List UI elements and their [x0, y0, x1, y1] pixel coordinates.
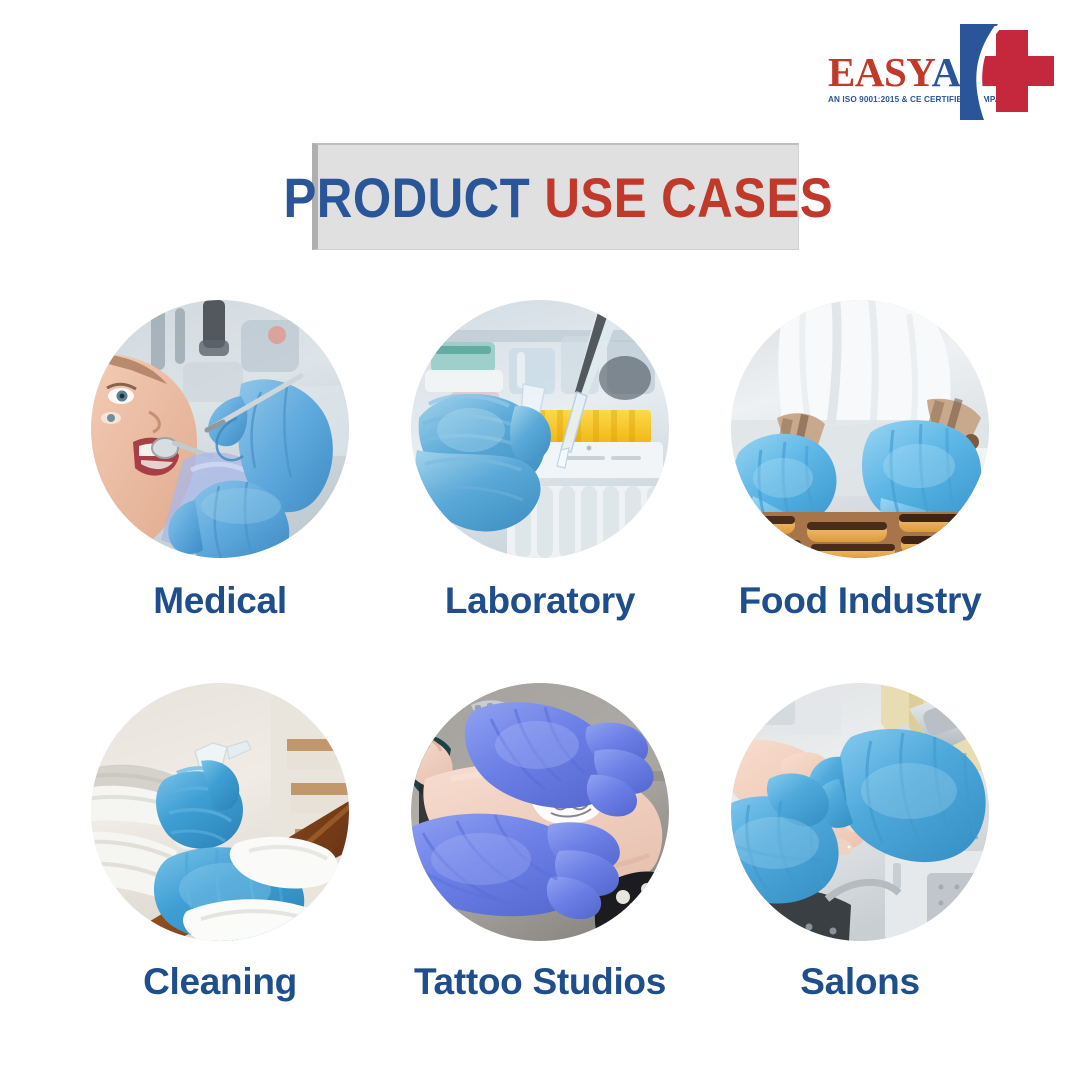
title-secondary: USE CASES — [544, 166, 833, 229]
poster-canvas: EASYAID AN ISO 9001:2015 & CE CERTIFIED … — [0, 0, 1080, 1080]
use-case-label-food-industry: Food Industry — [739, 582, 982, 619]
use-case-card-food-industry: Food Industry — [700, 300, 1020, 657]
use-case-card-salons: Salons — [700, 683, 1020, 1040]
use-case-card-cleaning: Cleaning — [60, 683, 380, 1040]
cleaning-illustration — [91, 683, 349, 941]
manicure-nail-drill-photo — [731, 683, 989, 941]
dental-examination-photo — [91, 300, 349, 558]
pipette-lab-photo — [411, 300, 669, 558]
use-case-label-cleaning: Cleaning — [143, 963, 297, 1000]
title-banner: PRODUCT USE CASES — [312, 143, 799, 250]
use-case-label-salons: Salons — [800, 963, 920, 1000]
use-case-label-tattoo-studios: Tattoo Studios — [414, 963, 666, 1000]
brand-logo: EASYAID AN ISO 9001:2015 & CE CERTIFIED … — [822, 18, 1062, 126]
medical-cross-swoosh-icon — [960, 24, 1056, 120]
bakery-gloves-photo — [731, 300, 989, 558]
use-case-card-tattoo-studios: Tattoo Studios — [380, 683, 700, 1040]
food-industry-illustration — [731, 300, 989, 558]
laboratory-pipette-illustration — [411, 300, 669, 558]
use-case-label-laboratory: Laboratory — [445, 582, 635, 619]
tattoo-studio-illustration — [411, 683, 669, 941]
dental-examination-illustration — [91, 300, 349, 558]
title-primary: PRODUCT — [283, 166, 530, 229]
brand-name-easy: EASY — [828, 49, 932, 95]
salon-manicure-illustration — [731, 683, 989, 941]
use-case-label-medical: Medical — [153, 582, 287, 619]
page-title: PRODUCT USE CASES — [283, 165, 833, 230]
spray-bottle-wipe-photo — [91, 683, 349, 941]
tattoo-stencil-arm-photo — [411, 683, 669, 941]
use-case-card-laboratory: Laboratory — [380, 300, 700, 657]
use-case-card-medical: Medical — [60, 300, 380, 657]
use-case-grid: Medical — [60, 300, 1020, 1040]
